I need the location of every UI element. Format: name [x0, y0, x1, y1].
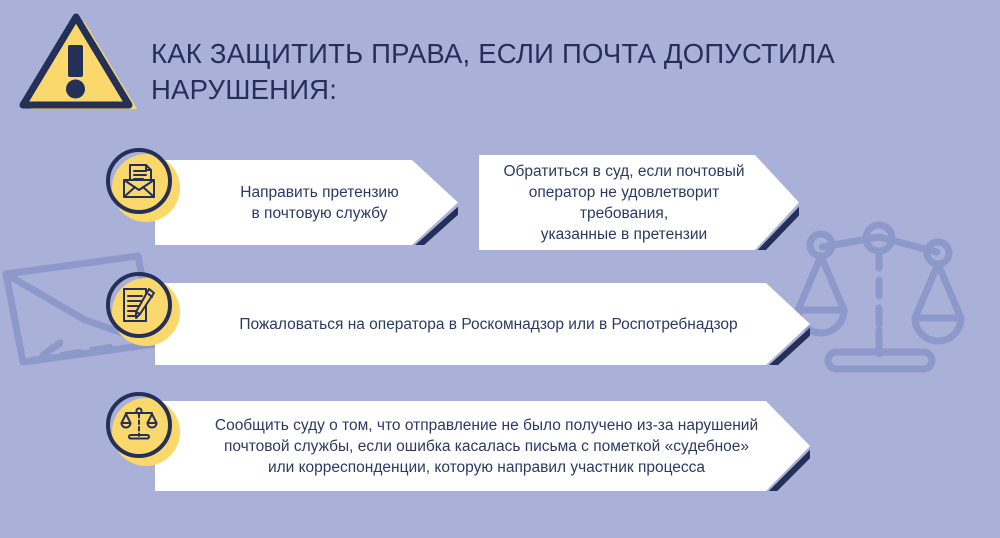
scales-decoration	[792, 212, 967, 392]
step-arrow-1: Направить претензию в почтовую службу	[155, 160, 458, 245]
step-arrow-3: Пожаловаться на оператора в Роскомнадзор…	[155, 283, 810, 365]
step-icon-badge-2	[106, 272, 180, 346]
infographic-canvas: Как защитить права, если почта допустила…	[0, 0, 1000, 538]
document-pen-icon	[119, 285, 159, 325]
step-icon-badge-3	[106, 392, 180, 466]
step-label-2: Обратиться в суд, если почтовый оператор…	[479, 161, 799, 245]
warning-triangle-icon	[18, 12, 142, 116]
scales-of-justice-icon	[119, 405, 159, 445]
page-title: Как защитить права, если почта допустила…	[151, 36, 841, 108]
header: Как защитить права, если почта допустила…	[0, 0, 1000, 130]
step-icon-badge-1	[106, 148, 180, 222]
envelope-document-icon	[119, 161, 159, 201]
step-arrow-2: Обратиться в суд, если почтовый оператор…	[479, 155, 799, 250]
step-label-1: Направить претензию в почтовую службу	[155, 182, 458, 224]
step-label-4: Сообщить суду о том, что отправление не …	[155, 415, 810, 478]
step-label-3: Пожаловаться на оператора в Роскомнадзор…	[155, 314, 810, 335]
step-arrow-4: Сообщить суду о том, что отправление не …	[155, 401, 810, 491]
